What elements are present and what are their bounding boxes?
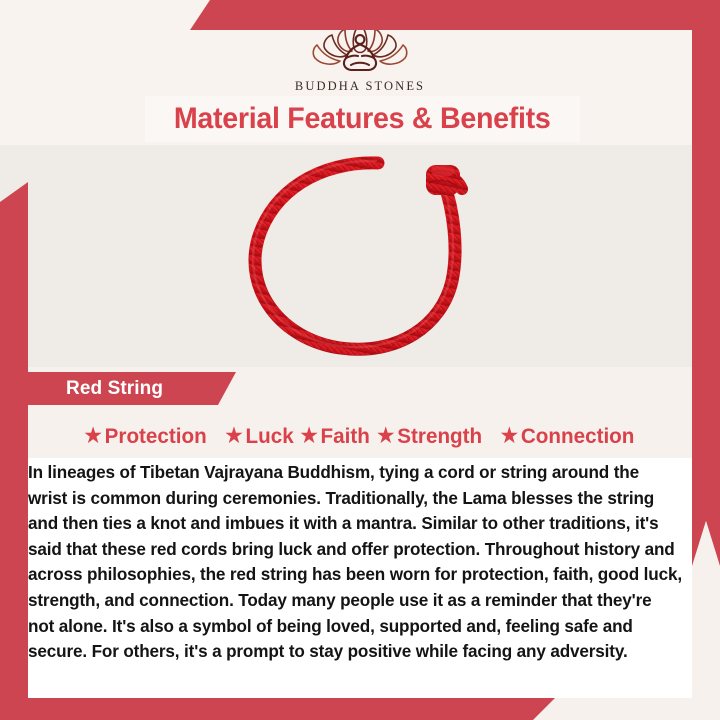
star-icon: ★ — [501, 426, 518, 446]
red-string-bracelet-illustration — [228, 149, 492, 363]
description-text: In lineages of Tibetan Vajrayana Buddhis… — [28, 460, 682, 665]
benefit-item-luck: ★Luck — [225, 424, 293, 449]
frame-accent-top — [190, 0, 720, 30]
star-icon: ★ — [85, 426, 102, 446]
benefit-item-protection: ★Protection — [85, 424, 207, 449]
bracelet-knot — [426, 165, 460, 195]
benefit-label: Faith — [320, 424, 369, 449]
frame-accent-left — [0, 182, 28, 720]
benefit-item-faith: ★Faith — [300, 424, 369, 449]
benefit-item-connection: ★Connection — [501, 424, 635, 449]
brand-name: BUDDHA STONES — [295, 79, 425, 94]
infographic-page: BUDDHA STONES Material Features & Benefi… — [0, 0, 720, 720]
product-name-banner: Red String — [18, 372, 236, 405]
frame-accent-bottom — [0, 698, 555, 720]
star-icon: ★ — [300, 426, 317, 446]
product-image — [0, 145, 720, 367]
star-icon: ★ — [225, 426, 242, 446]
benefit-label: Strength — [397, 424, 482, 449]
page-title-banner: Material Features & Benefits — [145, 96, 580, 142]
description-panel: In lineages of Tibetan Vajrayana Buddhis… — [28, 458, 692, 698]
benefit-item-strength: ★Strength — [377, 424, 482, 449]
star-icon: ★ — [377, 426, 394, 446]
benefit-label: Protection — [105, 424, 207, 449]
benefits-list: ★Protection ★Luck ★Faith ★Strength ★Conn… — [28, 419, 692, 453]
benefit-label: Luck — [245, 424, 293, 449]
product-name-label: Red String — [66, 378, 163, 400]
frame-accent-right — [692, 0, 720, 566]
benefit-label: Connection — [521, 424, 635, 449]
page-title: Material Features & Benefits — [174, 102, 551, 136]
